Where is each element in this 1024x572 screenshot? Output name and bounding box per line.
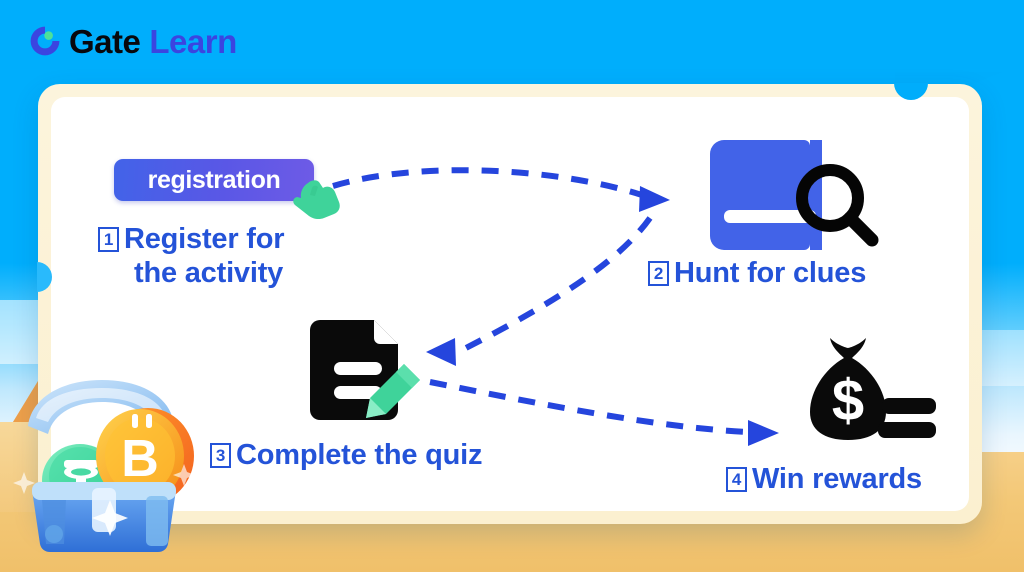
step-2: 2Hunt for clues bbox=[648, 256, 866, 290]
registration-button[interactable]: registration bbox=[114, 159, 314, 201]
step-4-label: 4Win rewards bbox=[726, 462, 922, 496]
step-4-number: 4 bbox=[726, 467, 747, 492]
step-3-number: 3 bbox=[210, 443, 231, 468]
step-4-text: Win rewards bbox=[752, 463, 922, 495]
money-bag-icon: $ bbox=[786, 336, 938, 450]
svg-text:$: $ bbox=[832, 368, 864, 433]
step-1: 1Register for the activity bbox=[98, 222, 368, 290]
bag-shape: $ bbox=[810, 338, 886, 440]
step-1-text-line2: the activity bbox=[98, 256, 283, 290]
step-3-label: 3Complete the quiz bbox=[210, 438, 482, 472]
cash-stack-shape bbox=[878, 398, 936, 438]
brand-gate: Gate bbox=[69, 23, 140, 60]
treasure-chest-with-coins: B bbox=[6, 368, 202, 554]
step-2-label: 2Hunt for clues bbox=[648, 256, 866, 290]
book-search-icon bbox=[706, 136, 884, 254]
hand-pointer-icon bbox=[291, 174, 343, 222]
promo-banner: GateLearn registration 1Regi bbox=[0, 0, 1024, 572]
brand-logo: GateLearn bbox=[28, 24, 237, 58]
step-1-label: 1Register for the activity bbox=[98, 222, 368, 290]
step-4: 4Win rewards bbox=[726, 462, 922, 496]
step-1-number: 1 bbox=[98, 227, 119, 252]
brand-learn: Learn bbox=[149, 23, 236, 60]
card-notch-left bbox=[37, 262, 52, 292]
step-3: 3Complete the quiz bbox=[210, 438, 482, 472]
step-2-number: 2 bbox=[648, 261, 669, 286]
step-3-text: Complete the quiz bbox=[236, 439, 482, 471]
svg-text:B: B bbox=[121, 430, 159, 488]
step-2-text: Hunt for clues bbox=[674, 257, 866, 289]
document-pencil-icon bbox=[308, 316, 432, 422]
brand-wordmark: GateLearn bbox=[69, 25, 237, 58]
step-1-text-line1: Register for bbox=[124, 223, 284, 255]
gate-ring-logo bbox=[28, 24, 62, 58]
